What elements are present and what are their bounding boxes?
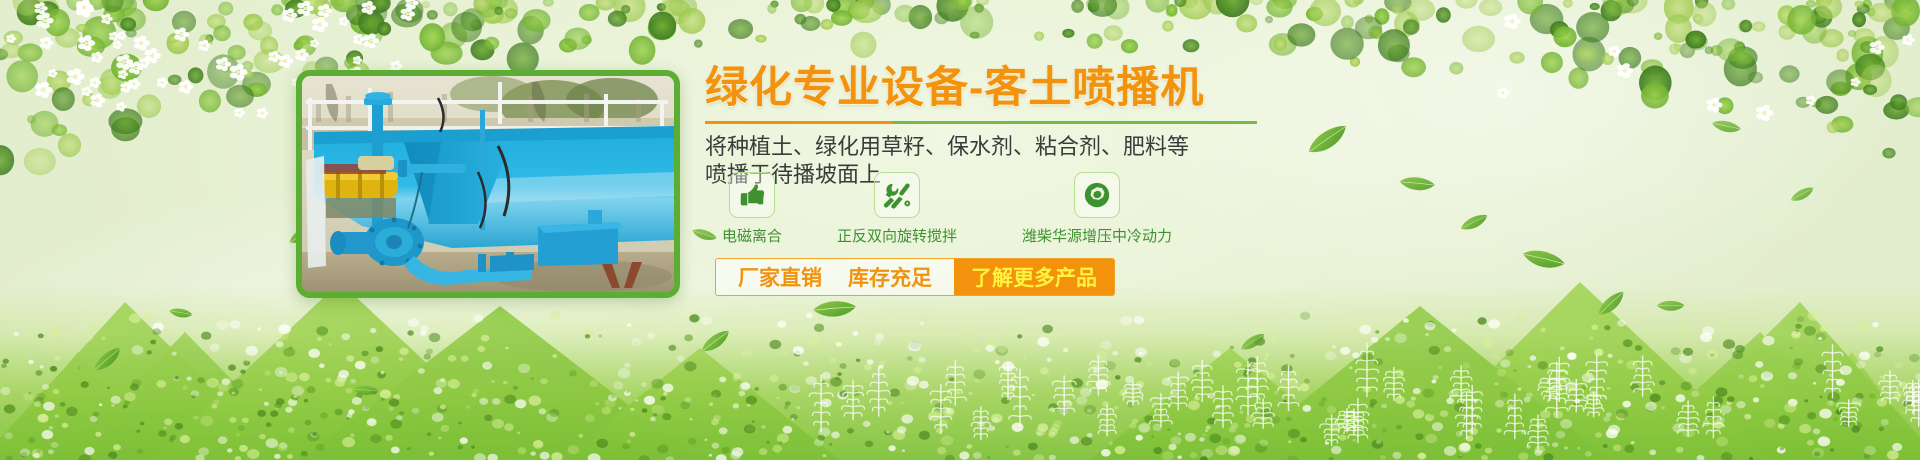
thumbs-up-icon <box>729 172 775 218</box>
feature-item-electromagnetic-clutch: 电磁离合 <box>705 172 799 246</box>
feature-list: 电磁离合 正反双向旋转搅拌 <box>705 172 1405 248</box>
product-photo-frame[interactable] <box>296 70 680 298</box>
product-photo <box>302 76 674 292</box>
promo-banner: 绿化专业设备-客土喷播机 将种植土、绿化用草籽、保水剂、粘合剂、肥料等 喷播于待… <box>0 0 1920 460</box>
cta-bar: 厂家直销 库存充足 了解更多产品 <box>715 258 1115 296</box>
leaf-icon <box>1458 213 1492 239</box>
subtitle-line-1: 将种植土、绿化用草籽、保水剂、粘合剂、肥料等 <box>705 133 1405 161</box>
feature-item-bidirectional-mixing: 正反双向旋转搅拌 <box>809 172 985 246</box>
feature-label: 正反双向旋转搅拌 <box>809 225 985 246</box>
cta-slogans: 厂家直销 库存充足 <box>716 259 954 295</box>
cta-slogan-1: 厂家直销 <box>738 262 822 292</box>
cta-slogan-2: 库存充足 <box>848 262 932 292</box>
gear-icon <box>1074 172 1120 218</box>
feature-label: 潍柴华源增压中冷动力 <box>995 225 1199 246</box>
grass-texture-decoration <box>0 275 1920 460</box>
feature-label: 电磁离合 <box>705 225 799 246</box>
feature-item-weichai-power: 潍柴华源增压中冷动力 <box>995 172 1199 246</box>
tools-icon <box>874 172 920 218</box>
banner-copy: 绿化专业设备-客土喷播机 将种植土、绿化用草籽、保水剂、粘合剂、肥料等 喷播于待… <box>705 66 1405 189</box>
page-title: 绿化专业设备-客土喷播机 <box>705 66 1405 112</box>
learn-more-button[interactable]: 了解更多产品 <box>954 259 1114 295</box>
title-divider <box>705 121 1257 124</box>
